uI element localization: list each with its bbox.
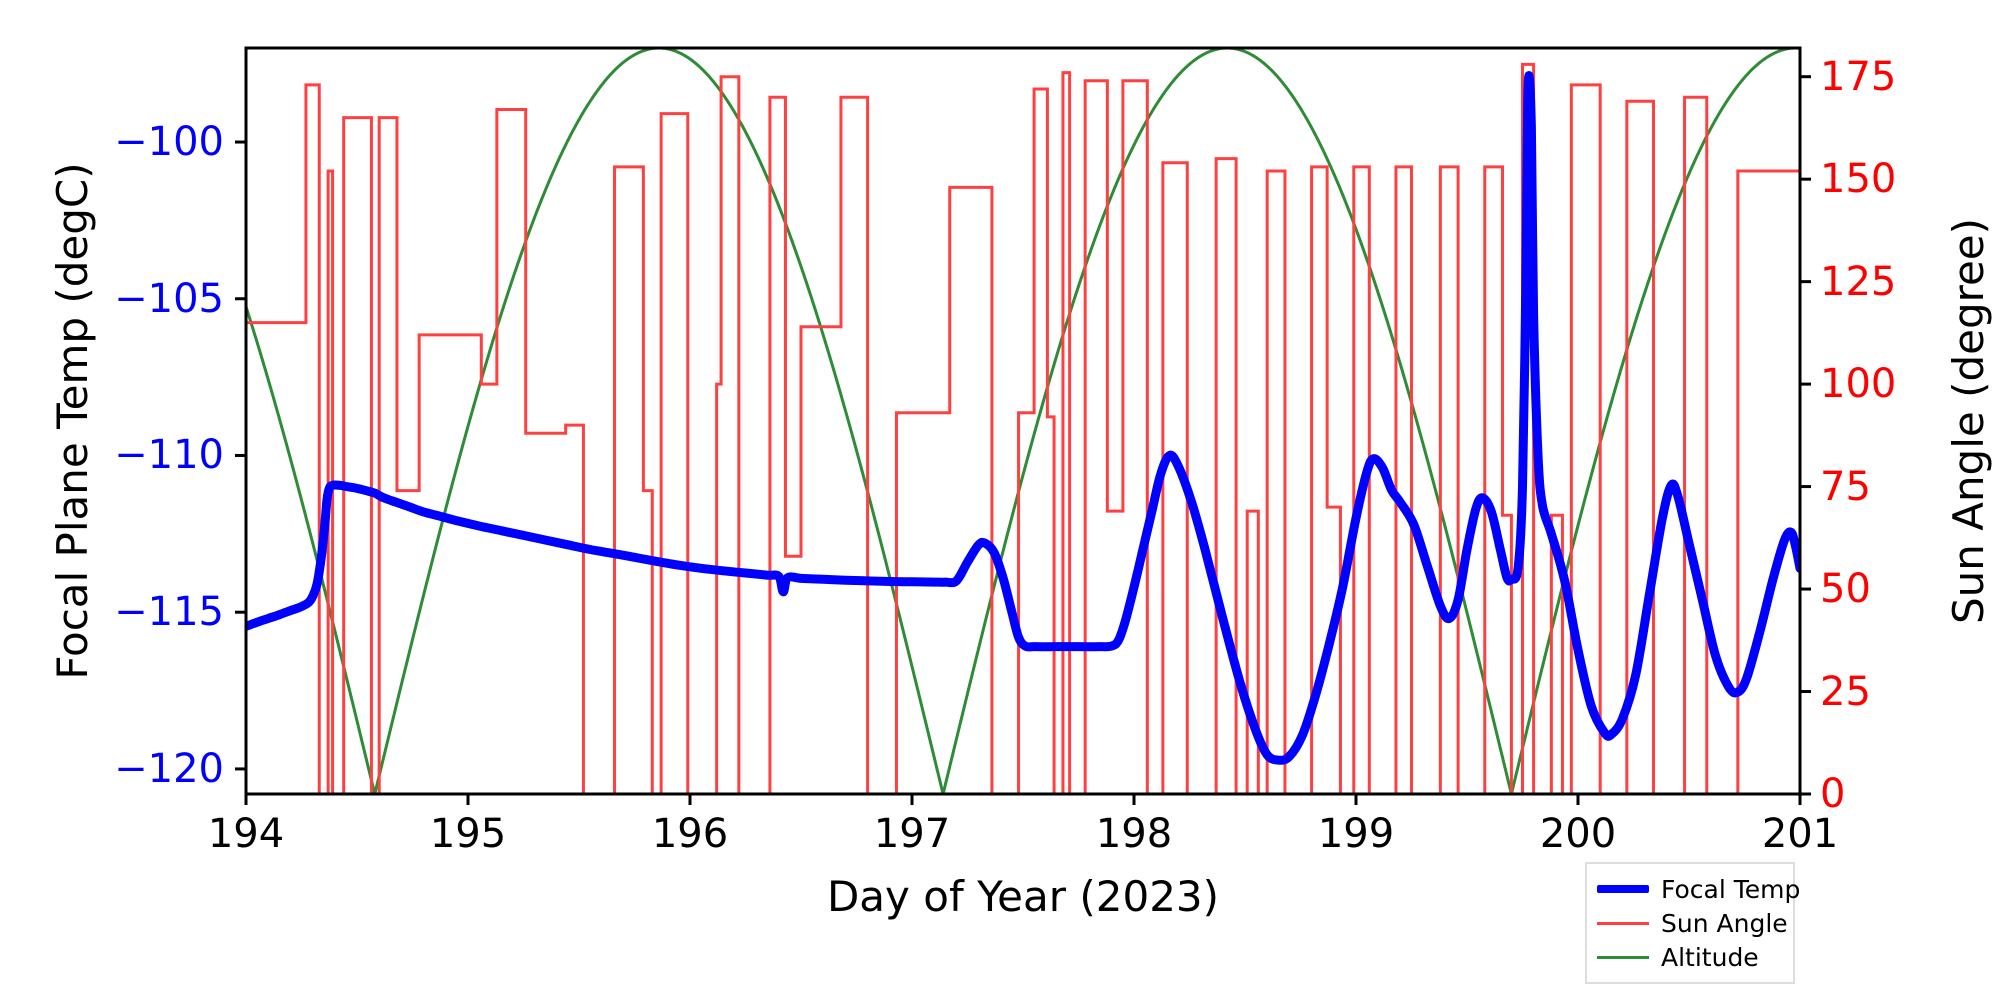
y-right-tick-label-125: 125 xyxy=(1820,262,1896,302)
x-tick-label-199: 199 xyxy=(1318,814,1394,854)
series-line-focal-temp xyxy=(246,76,1800,761)
y-right-tick-label-50: 50 xyxy=(1820,569,1871,609)
legend-swatch-icon xyxy=(1597,956,1649,959)
series-line-altitude xyxy=(246,48,1800,794)
y-axis-right-title: Sun Angle (degree) xyxy=(1948,218,1990,624)
axes-frame xyxy=(246,48,1800,794)
x-tick-label-197: 197 xyxy=(874,814,950,854)
y-left-tick-label--120: −120 xyxy=(0,749,224,789)
chart-legend[interactable]: Focal TempSun AngleAltitude xyxy=(1585,862,1795,984)
y-left-tick-label--105: −105 xyxy=(0,279,224,319)
y-right-tick-label-150: 150 xyxy=(1820,159,1896,199)
x-tick-label-195: 195 xyxy=(430,814,506,854)
y-right-tick-label-75: 75 xyxy=(1820,467,1871,507)
legend-item-focal-temp[interactable]: Focal Temp xyxy=(1597,872,1781,906)
legend-label: Altitude xyxy=(1661,943,1759,972)
y-left-tick-label--110: −110 xyxy=(0,435,224,475)
y-right-tick-label-100: 100 xyxy=(1820,364,1896,404)
legend-label: Focal Temp xyxy=(1661,875,1800,904)
y-left-tick-label--100: −100 xyxy=(0,122,224,162)
y-right-tick-label-175: 175 xyxy=(1820,57,1896,97)
x-axis-title: Day of Year (2023) xyxy=(827,876,1219,918)
x-tick-label-194: 194 xyxy=(208,814,284,854)
legend-swatch-icon xyxy=(1597,885,1649,892)
figure-canvas: 194195196197198199200201−100−105−110−115… xyxy=(0,0,2000,1000)
legend-item-altitude[interactable]: Altitude xyxy=(1597,940,1781,974)
y-left-tick-label--115: −115 xyxy=(0,592,224,632)
series-layer xyxy=(246,48,1800,794)
series-line-sun-angle xyxy=(246,64,1800,794)
legend-label: Sun Angle xyxy=(1661,909,1788,938)
y-right-tick-label-0: 0 xyxy=(1820,774,1845,814)
axes-frame-rect xyxy=(246,48,1800,794)
x-tick-label-200: 200 xyxy=(1540,814,1616,854)
x-tick-label-201: 201 xyxy=(1762,814,1838,854)
legend-item-sun-angle[interactable]: Sun Angle xyxy=(1597,906,1781,940)
chart-plot-area xyxy=(0,0,2000,1000)
tick-marks xyxy=(235,77,1811,805)
y-axis-left-title: Focal Plane Temp (degC) xyxy=(52,162,94,679)
x-tick-label-196: 196 xyxy=(652,814,728,854)
x-tick-label-198: 198 xyxy=(1096,814,1172,854)
y-right-tick-label-25: 25 xyxy=(1820,672,1871,712)
legend-swatch-icon xyxy=(1597,922,1649,925)
